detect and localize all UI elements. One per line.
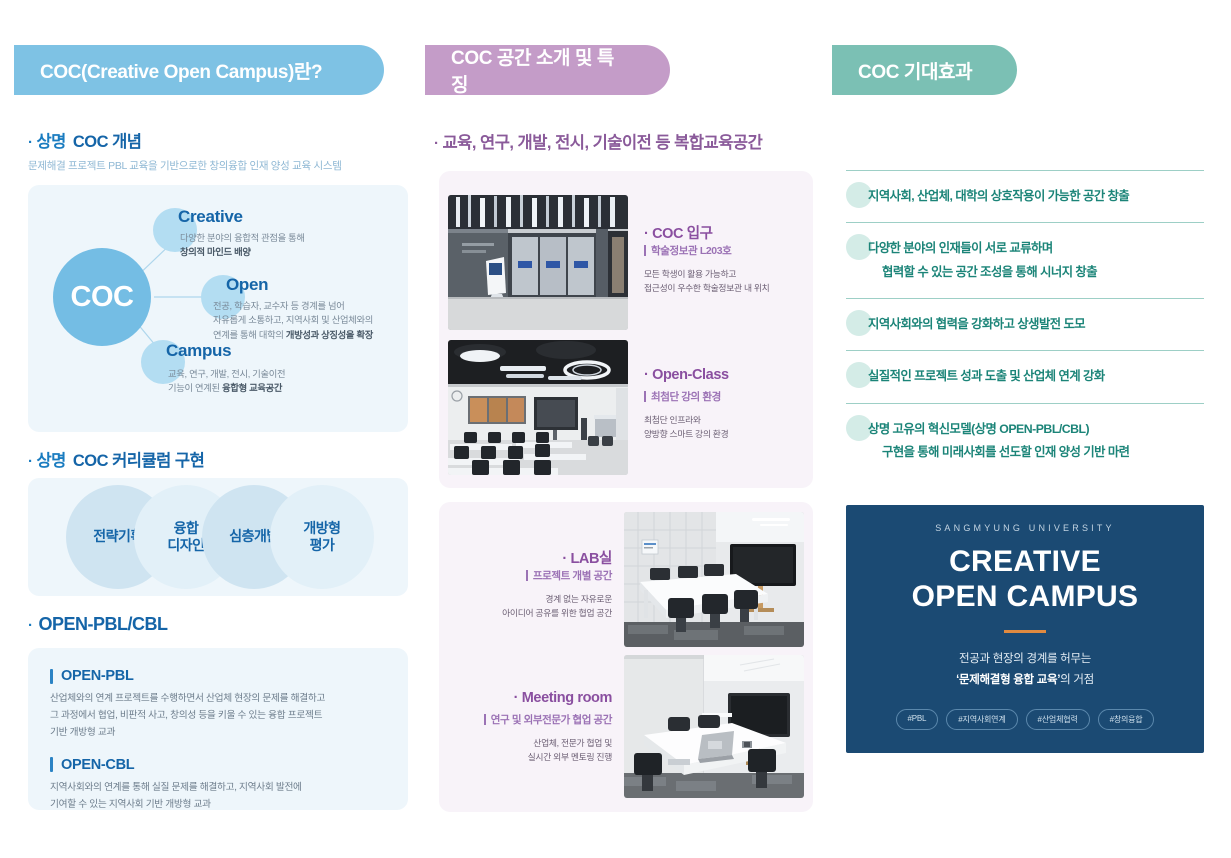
space-desc-line2: 실시간 외부 멘토링 진행	[447, 750, 612, 764]
space-title-open-class: · Open-Class	[644, 367, 729, 383]
promo-subtitle: 전공과 현장의 경계를 허무는 ‘문제해결형 융합 교육’의 거점	[956, 649, 1094, 692]
accent-bar-icon	[484, 714, 486, 725]
promo-tag-1: #PBL	[896, 709, 939, 730]
promo-title-line2: OPEN CAMPUS	[912, 579, 1139, 614]
pbl-block-open-pbl: OPEN-PBL 산업체와의 연계 프로젝트를 수행하면서 산업체 현장의 문제…	[50, 668, 386, 742]
curriculum-title-part2: COC 커리큘럼 구현	[73, 447, 204, 471]
space-desc-line2: 접근성이 우수한 학술정보관 내 위치	[644, 281, 769, 295]
creative-desc-line2: 창의적 마인드 배양	[180, 247, 251, 257]
space-desc-line1: 경계 없는 자유로운	[447, 592, 612, 606]
pbl-head-label-1: OPEN-PBL	[61, 668, 134, 684]
space-sub-label: 최첨단 강의 환경	[651, 389, 721, 404]
space-desc-line1: 모든 학생이 활용 가능하고	[644, 267, 769, 281]
concept-title-part1: 상명	[37, 128, 66, 152]
space-desc-lab: 경계 없는 자유로운 아이디어 공유를 위한 협업 공간	[447, 592, 612, 620]
concept-heading-group: · 상명 COC 개념 문제해결 프로젝트 PBL 교육을 기반으로한 창의융합…	[28, 128, 408, 173]
promo-tag-3: #산업체협력	[1026, 709, 1090, 730]
section-header-label: COC(Creative Open Campus)란?	[40, 57, 322, 84]
effects-list: 지역사회, 산업체, 대학의 상호작용이 가능한 공간 창출 다양한 분야의 인…	[846, 170, 1204, 479]
section-header-coc-definition: COC(Creative Open Campus)란?	[14, 45, 384, 95]
space-title-label: Meeting room	[522, 690, 612, 706]
pbl-heading-group: · OPEN-PBL/CBL	[28, 614, 168, 635]
effect-text-5b: 구현을 통해 미래사회를 선도할 인재 양성 기반 마련	[868, 441, 1204, 464]
space-sub-meeting-room: 연구 및 외부전문가 협업 공간	[447, 712, 612, 727]
pbl-body-1: 산업체와의 연계 프로젝트를 수행하면서 산업체 현장의 문제를 해결하고 그 …	[50, 691, 386, 742]
column-coc-effects: COC 기대효과 지역사회, 산업체, 대학의 상호작용이 가능한 공간 창출 …	[832, 0, 1217, 858]
section-header-label: COC 공간 소개 및 특징	[451, 43, 630, 97]
accent-bar-icon	[526, 570, 528, 581]
curriculum-title: · 상명 COC 커리큘럼 구현	[28, 447, 204, 471]
effect-item-3: 지역사회와의 협력을 강화하고 상생발전 도모	[846, 299, 1204, 350]
promo-tag-2: #지역사회연계	[946, 709, 1017, 730]
curriculum-card: 전략기획 융합 디자인 심층개발 개방형 평가	[28, 478, 408, 596]
space-title-lab: · LAB실	[447, 547, 612, 568]
promo-sub-line1: 전공과 현장의 경계를 허무는	[956, 649, 1094, 670]
open-desc-line3-bold: 개방성과 상징성을 확장	[286, 330, 373, 340]
space-desc-coc-entrance: 모든 학생이 활용 가능하고 접근성이 우수한 학술정보관 내 위치	[644, 267, 769, 295]
section-header-coc-spaces: COC 공간 소개 및 특징	[425, 45, 670, 95]
effect-text-3: 지역사회와의 협력을 강화하고 상생발전 도모	[868, 313, 1204, 336]
effect-item-4: 실질적인 프로젝트 성과 도출 및 산업체 연계 강화	[846, 351, 1204, 402]
curriculum-label-4: 개방형 평가	[303, 520, 340, 555]
accent-bar-icon	[644, 245, 646, 256]
pbl-title: · OPEN-PBL/CBL	[28, 614, 168, 635]
space-desc-open-class: 최첨단 인프라와 양방향 스마트 강의 환경	[644, 413, 728, 441]
meeting-room-photo	[624, 655, 804, 798]
curriculum-title-part1: 상명	[37, 447, 66, 471]
space-sub-coc-entrance: 학술정보관 L203호	[644, 243, 731, 258]
node-desc-creative: 다양한 분야의 융합적 관점을 통해 창의적 마인드 배양	[180, 231, 305, 260]
bullet-dot-icon: ·	[644, 367, 648, 383]
concept-title: · 상명 COC 개념	[28, 128, 408, 152]
spaces-panel-top: · COC 입구 학술정보관 L203호 모든 학생이 활용 가능하고 접근성이…	[439, 171, 813, 488]
promo-divider-rule	[1004, 630, 1046, 633]
space-sub-label: 프로젝트 개별 공간	[533, 568, 612, 583]
space-sub-label: 학술정보관 L203호	[651, 243, 731, 258]
venn-diagram: COC Creative 다양한 분야의 융합적 관점을 통해 창의적 마인드 …	[28, 185, 408, 432]
section-header-coc-effects: COC 기대효과	[832, 45, 1017, 95]
coc-entrance-lobby-photo	[448, 195, 628, 330]
pbl-title-label: OPEN-PBL/CBL	[39, 614, 168, 635]
accent-bar-icon	[644, 391, 646, 402]
campus-desc-line1: 교육, 연구, 개발, 전시, 기술이전	[168, 367, 285, 381]
space-desc-line2: 아이디어 공유를 위한 협업 공간	[447, 606, 612, 620]
pbl-head-label-2: OPEN-CBL	[61, 757, 134, 773]
space-title-label: Open-Class	[652, 367, 729, 383]
column-coc-spaces: COC 공간 소개 및 특징 · 교육, 연구, 개발, 전시, 기술이전 등 …	[425, 0, 820, 858]
spaces-section-title-label: 교육, 연구, 개발, 전시, 기술이전 등 복합교육공간	[443, 129, 763, 153]
space-title-meeting-room: · Meeting room	[447, 690, 612, 706]
promo-sub-line2-bold: ‘문제해결형 융합 교육’	[956, 674, 1060, 686]
promo-sub-line2-tail: 의 거점	[1060, 674, 1094, 686]
space-desc-line2: 양방향 스마트 강의 환경	[644, 427, 728, 441]
column-coc-definition: COC(Creative Open Campus)란? · 상명 COC 개념 …	[14, 0, 424, 858]
coc-center-label: COC	[71, 281, 134, 314]
effect-text-2a: 다양한 분야의 인재들이 서로 교류하며	[868, 237, 1204, 260]
bullet-dot-icon: ·	[644, 226, 648, 242]
space-sub-label: 연구 및 외부전문가 협업 공간	[491, 712, 612, 727]
bullet-dot-icon: ·	[514, 690, 518, 706]
concept-diagram-card: COC Creative 다양한 분야의 융합적 관점을 통해 창의적 마인드 …	[28, 185, 408, 432]
node-label-open: Open	[226, 275, 268, 295]
pbl-block-head-2: OPEN-CBL	[50, 757, 386, 773]
node-label-creative: Creative	[178, 207, 243, 227]
node-desc-open: 전공, 학습자, 교수자 등 경계를 넘어 자유롭게 소통하고, 지역사회 및 …	[213, 299, 373, 342]
effect-text-5a: 상명 고유의 혁신모델(상명 OPEN-PBL/CBL)	[868, 418, 1204, 441]
promo-title: CREATIVE OPEN CAMPUS	[912, 544, 1139, 615]
node-desc-campus: 교육, 연구, 개발, 전시, 기술이전 기능이 연계된 융합형 교육공간	[168, 367, 285, 396]
promo-sub-line2: ‘문제해결형 융합 교육’의 거점	[956, 670, 1094, 691]
bullet-dot-icon: ·	[434, 135, 439, 152]
open-desc-line3-pre: 연계를 통해 대학의	[213, 330, 286, 340]
spaces-panel-bottom: · LAB실 프로젝트 개별 공간 경계 없는 자유로운 아이디어 공유를 위한…	[439, 502, 813, 812]
space-title-coc-entrance: · COC 입구	[644, 222, 713, 243]
concept-title-part2: COC 개념	[73, 128, 142, 152]
bullet-dot-icon: ·	[28, 134, 33, 151]
effect-item-1: 지역사회, 산업체, 대학의 상호작용이 가능한 공간 창출	[846, 171, 1204, 222]
effect-text-1: 지역사회, 산업체, 대학의 상호작용이 가능한 공간 창출	[868, 185, 1204, 208]
space-sub-lab: 프로젝트 개별 공간	[447, 568, 612, 583]
space-title-label: COC 입구	[652, 226, 713, 242]
promo-tag-list: #PBL #지역사회연계 #산업체협력 #창의융합	[896, 709, 1155, 730]
campus-desc-line2-bold: 융합형 교육공간	[222, 383, 282, 393]
coc-center-circle: COC	[53, 248, 151, 346]
campus-desc-line2-pre: 기능이 연계된	[168, 383, 222, 393]
space-desc-line1: 최첨단 인프라와	[644, 413, 728, 427]
spaces-section-title: · 교육, 연구, 개발, 전시, 기술이전 등 복합교육공간	[434, 129, 762, 153]
space-title-label: LAB실	[570, 551, 612, 567]
infographic-page: COC(Creative Open Campus)란? · 상명 COC 개념 …	[0, 0, 1231, 858]
accent-bar-icon	[50, 757, 53, 772]
space-desc-meeting-room: 산업체, 전문가 협업 및 실시간 외부 멘토링 진행	[447, 736, 612, 764]
effect-text-4: 실질적인 프로젝트 성과 도출 및 산업체 연계 강화	[868, 365, 1204, 388]
promo-title-line1: CREATIVE	[912, 544, 1139, 579]
pbl-body-2: 지역사회와의 연계를 통해 실질 문제를 해결하고, 지역사회 발전에 기여할 …	[50, 780, 386, 814]
promo-university-name: SANGMYUNG UNIVERSITY	[935, 523, 1115, 533]
effect-item-2: 다양한 분야의 인재들이 서로 교류하며 협력할 수 있는 공간 조성을 통해 …	[846, 223, 1204, 298]
promo-tag-4: #창의융합	[1098, 709, 1155, 730]
open-class-classroom-photo	[448, 340, 628, 475]
accent-bar-icon	[50, 669, 53, 684]
node-label-campus: Campus	[166, 341, 231, 361]
creative-desc-line1: 다양한 분야의 융합적 관점을 통해	[180, 231, 305, 245]
open-desc-line2: 자유롭게 소통하고, 지역사회 및 산업체와의	[213, 313, 373, 327]
lab-room-photo	[624, 512, 804, 647]
section-header-label: COC 기대효과	[858, 57, 972, 84]
curriculum-circle-4: 개방형 평가	[270, 485, 374, 589]
promo-card: SANGMYUNG UNIVERSITY CREATIVE OPEN CAMPU…	[846, 505, 1204, 753]
bullet-dot-icon: ·	[28, 453, 33, 470]
pbl-card: OPEN-PBL 산업체와의 연계 프로젝트를 수행하면서 산업체 현장의 문제…	[28, 648, 408, 810]
concept-subtitle: 문제해결 프로젝트 PBL 교육을 기반으로한 창의융합 인재 양성 교육 시스…	[28, 158, 408, 173]
space-desc-line1: 산업체, 전문가 협업 및	[447, 736, 612, 750]
pbl-block-open-cbl: OPEN-CBL 지역사회와의 연계를 통해 실질 문제를 해결하고, 지역사회…	[50, 757, 386, 814]
curriculum-label-2: 융합 디자인	[167, 520, 204, 555]
effect-text-2b: 협력할 수 있는 공간 조성을 통해 시너지 창출	[868, 261, 1204, 284]
open-desc-line1: 전공, 학습자, 교수자 등 경계를 넘어	[213, 299, 373, 313]
effect-item-5: 상명 고유의 혁신모델(상명 OPEN-PBL/CBL) 구현을 통해 미래사회…	[846, 404, 1204, 479]
space-sub-open-class: 최첨단 강의 환경	[644, 389, 721, 404]
curriculum-heading-group: · 상명 COC 커리큘럼 구현	[28, 447, 204, 471]
bullet-dot-icon: ·	[28, 617, 33, 634]
bullet-dot-icon: ·	[562, 551, 566, 567]
pbl-block-head-1: OPEN-PBL	[50, 668, 386, 684]
